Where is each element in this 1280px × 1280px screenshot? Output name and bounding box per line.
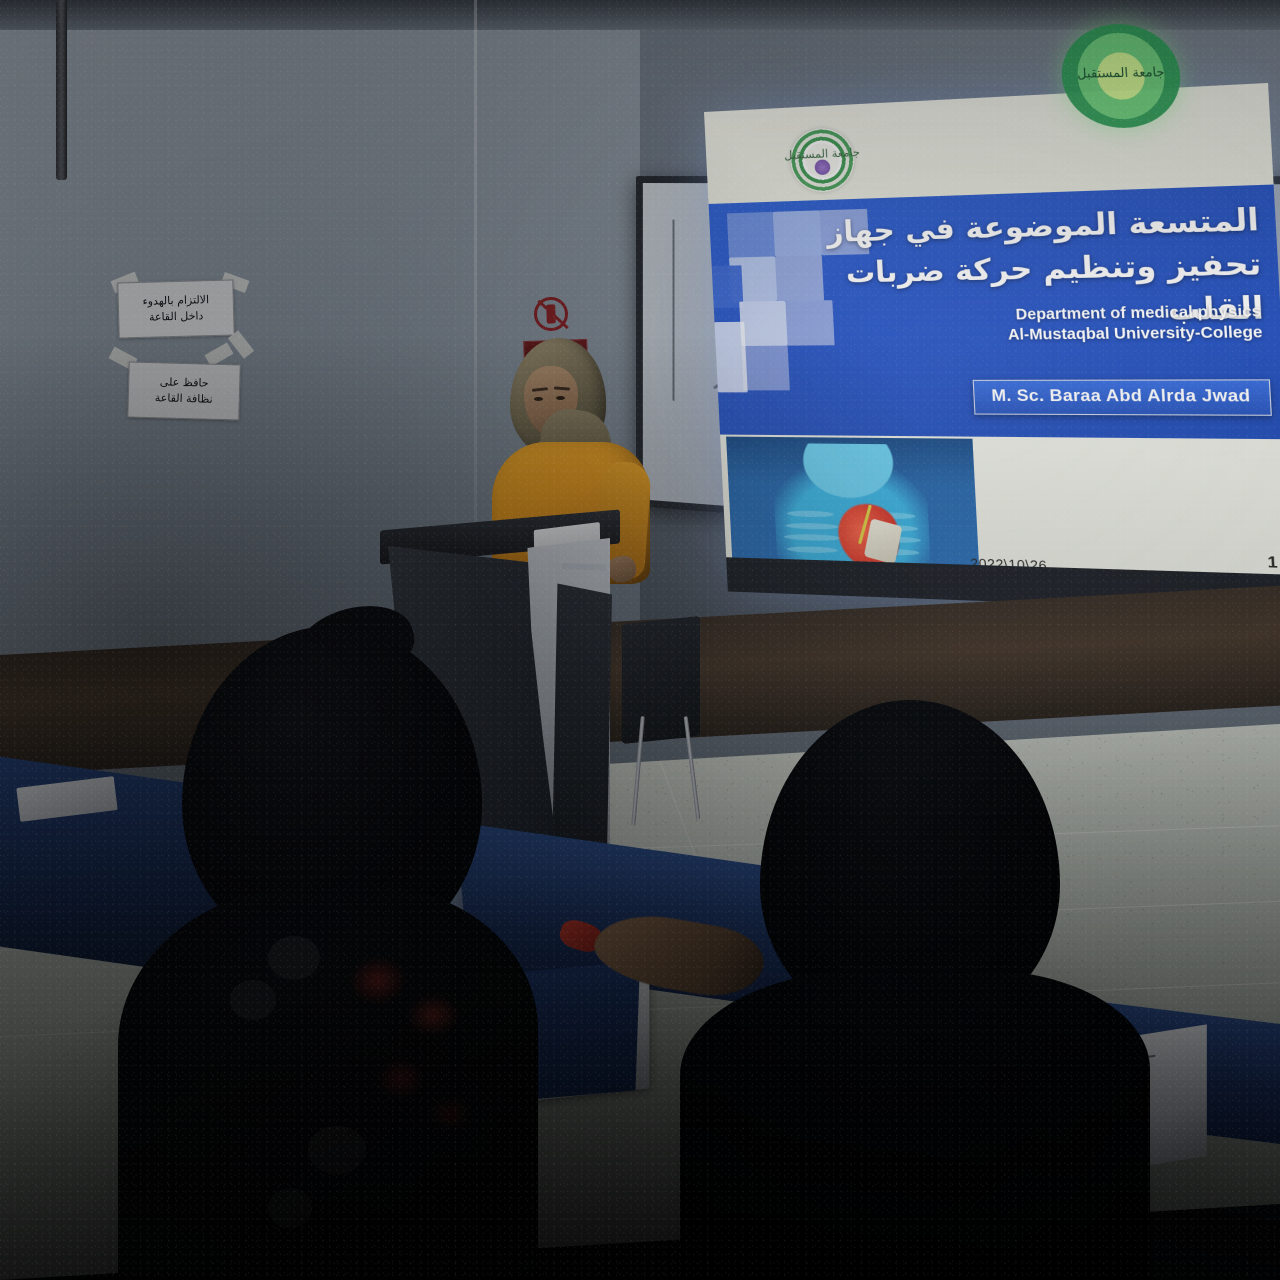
quiet-sign-line2: داخل القاعة <box>123 308 229 327</box>
slide-number: 1 <box>1267 553 1278 572</box>
quiet-sign: الالتزام بالهدوء داخل القاعة <box>117 279 234 338</box>
pacemaker-device-graphic <box>864 518 903 564</box>
lecture-hall-photo: جامعة المستقبل المتسعة الموضوعة في جهاز … <box>0 0 1280 1280</box>
ceiling <box>0 0 1280 30</box>
projected-slide: جامعة المستقبل المتسعة الموضوعة في جهاز … <box>704 83 1280 613</box>
cleanliness-sign: حافظ على نظافة القاعة <box>127 361 241 420</box>
slide-department: Department of medical physics Al-Mustaqb… <box>839 302 1263 348</box>
no-mobile-phone-icon <box>533 296 568 331</box>
cleanliness-sign-line2: نظافة القاعة <box>133 390 235 409</box>
student-foreground-right <box>700 700 1120 1280</box>
podium-front-face <box>550 578 612 852</box>
seal-arabic-text: جامعة المستقبل <box>1077 65 1165 82</box>
student-foreground-left <box>118 626 498 1280</box>
logo-arabic-text: جامعة المستقبل <box>784 145 860 162</box>
ceiling-pipe <box>56 0 67 180</box>
student-body <box>680 970 1150 1280</box>
university-line: Al-Mustaqbal University-College <box>840 323 1263 348</box>
presenter-name-banner: M. Sc. Baraa Abd Alrda Jwad <box>972 379 1272 416</box>
